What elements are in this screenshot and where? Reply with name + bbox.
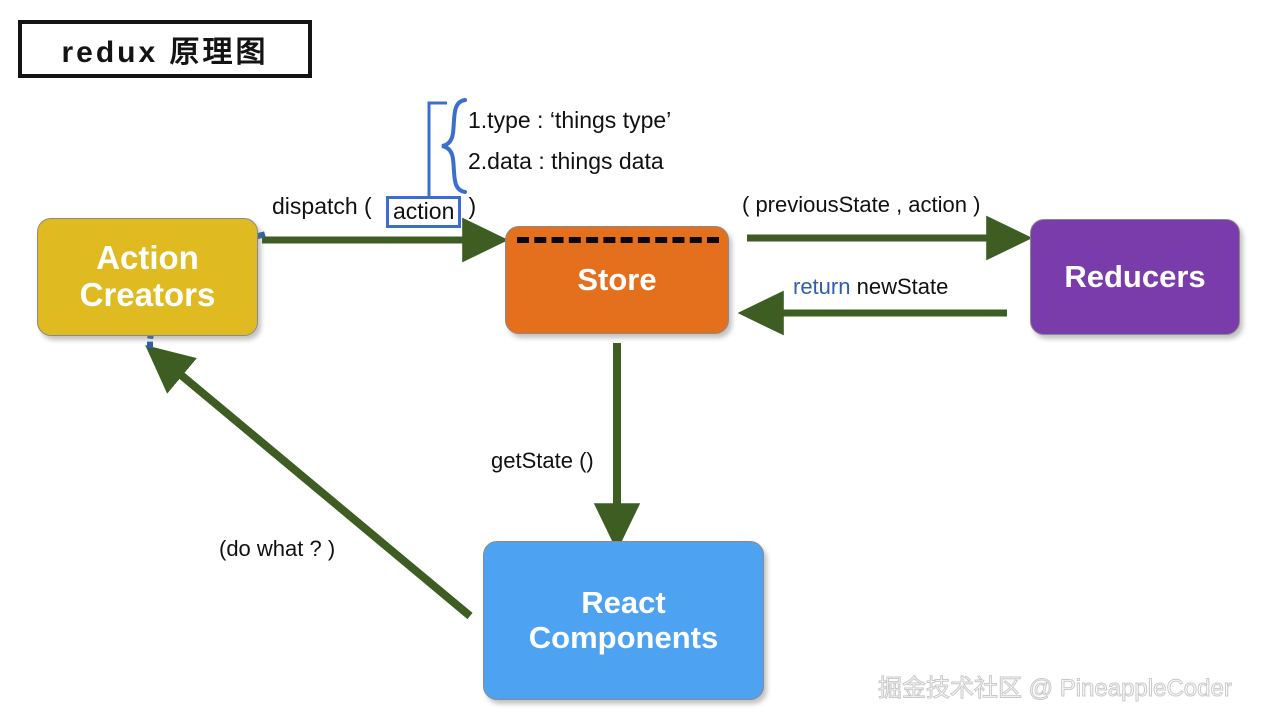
node-action-creators-label: Action Creators	[80, 240, 216, 314]
label-dispatch-prefix: dispatch (	[272, 193, 378, 219]
node-action-creators-line2: Creators	[80, 276, 216, 313]
node-action-creators-line1: Action	[96, 239, 199, 276]
label-return-keyword: return	[793, 274, 850, 299]
node-reducers[interactable]: Reducers	[1030, 219, 1240, 335]
label-action-type: 1.type : ‘things type’	[468, 107, 671, 134]
label-do-what: (do what ? )	[219, 536, 335, 562]
store-dashed-divider	[517, 237, 719, 243]
diagram-title-box: redux 原理图	[18, 20, 312, 78]
redux-diagram-canvas: redux 原理图	[0, 0, 1280, 720]
label-return-value: newState	[850, 274, 948, 299]
node-store-label: Store	[577, 263, 656, 298]
action-token-connector	[429, 103, 447, 196]
action-token-box: action	[386, 196, 461, 228]
label-get-state: getState ()	[491, 448, 594, 474]
label-dispatch-suffix: )	[462, 193, 476, 219]
arrow-do-what	[163, 360, 470, 616]
node-react-line1: React	[581, 585, 665, 620]
label-previous-state: ( previousState , action )	[742, 192, 980, 218]
watermark: 掘金技术社区 @ PineappleCoder	[878, 668, 1232, 703]
node-react-components-label: React Components	[529, 586, 718, 655]
node-react-line2: Components	[529, 620, 718, 655]
node-action-creators[interactable]: Action Creators	[37, 218, 258, 336]
label-return-newstate: return newState	[793, 274, 948, 300]
curly-brace-icon	[442, 100, 465, 192]
label-action-data: 2.data : things data	[468, 148, 664, 175]
node-reducers-label: Reducers	[1064, 260, 1205, 295]
node-react-components[interactable]: React Components	[483, 541, 764, 700]
page-title: redux 原理图	[61, 27, 268, 71]
